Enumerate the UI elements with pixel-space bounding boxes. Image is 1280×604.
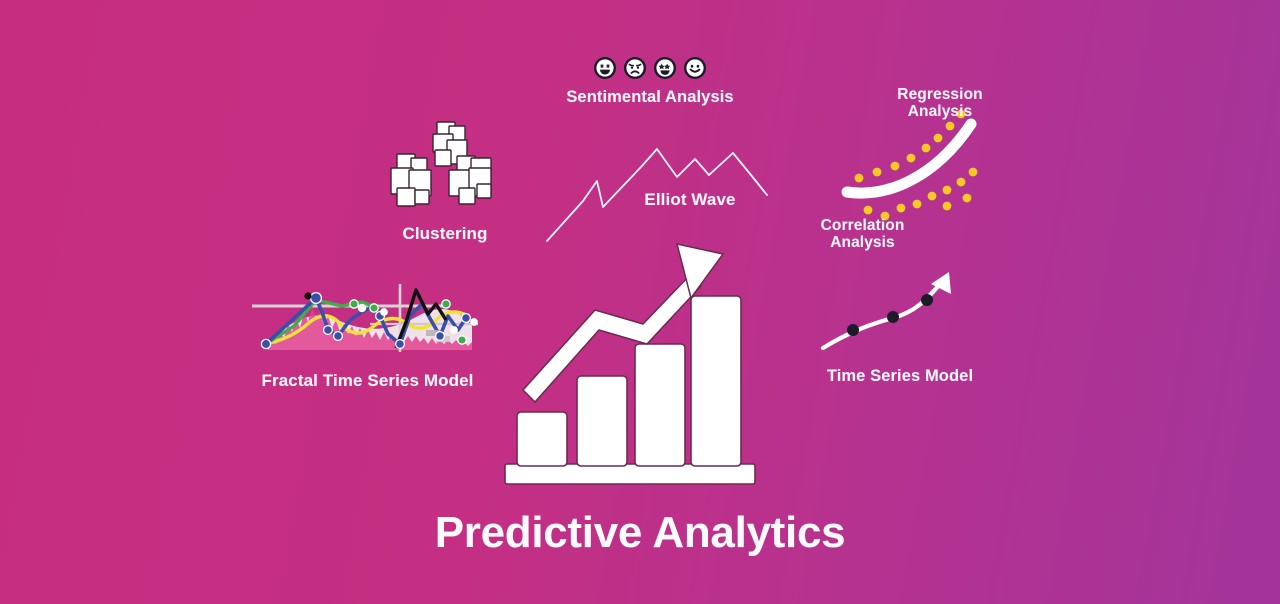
regression-analysis-label: Regression Analysis [875, 86, 1005, 121]
node-elliot-wave[interactable]: Elliot Wave [545, 135, 775, 245]
node-time-series-model[interactable]: Time Series Model [815, 262, 985, 385]
infographic-canvas: Sentimental Analysis [0, 0, 1280, 604]
node-clustering[interactable]: Clustering [385, 118, 505, 243]
node-sentimental-analysis[interactable]: Sentimental Analysis [540, 56, 760, 106]
sentimental-analysis-label: Sentimental Analysis [540, 88, 760, 106]
chart-base [505, 464, 755, 484]
fractal-time-series-icon [250, 282, 485, 354]
time-series-model-label: Time Series Model [815, 367, 985, 385]
clustering-icon [385, 118, 505, 218]
elliot-wave-label: Elliot Wave [605, 190, 775, 209]
page-title: Predictive Analytics [0, 508, 1280, 558]
main-bar-chart[interactable] [495, 232, 765, 487]
smiling-face-icon [683, 56, 707, 80]
scatter-dots [855, 110, 978, 221]
bar-3 [635, 344, 685, 466]
node-regression-correlation[interactable]: Regression Analysis Correlation Analysis [795, 82, 1005, 262]
clustering-label: Clustering [385, 224, 505, 243]
bar-2 [577, 376, 627, 466]
star-eyes-face-icon [653, 56, 677, 80]
time-series-model-icon [815, 262, 985, 354]
sad-face-icon [623, 56, 647, 80]
bar-4 [691, 296, 741, 466]
grinning-face-icon [593, 56, 617, 80]
bar-chart-with-trend-icon [495, 232, 765, 487]
bar-1 [517, 412, 567, 466]
fractal-time-series-label: Fractal Time Series Model [250, 371, 485, 390]
node-fractal-time-series[interactable]: Fractal Time Series Model [250, 282, 485, 390]
emoji-row [540, 56, 760, 80]
correlation-analysis-label: Correlation Analysis [795, 217, 930, 252]
